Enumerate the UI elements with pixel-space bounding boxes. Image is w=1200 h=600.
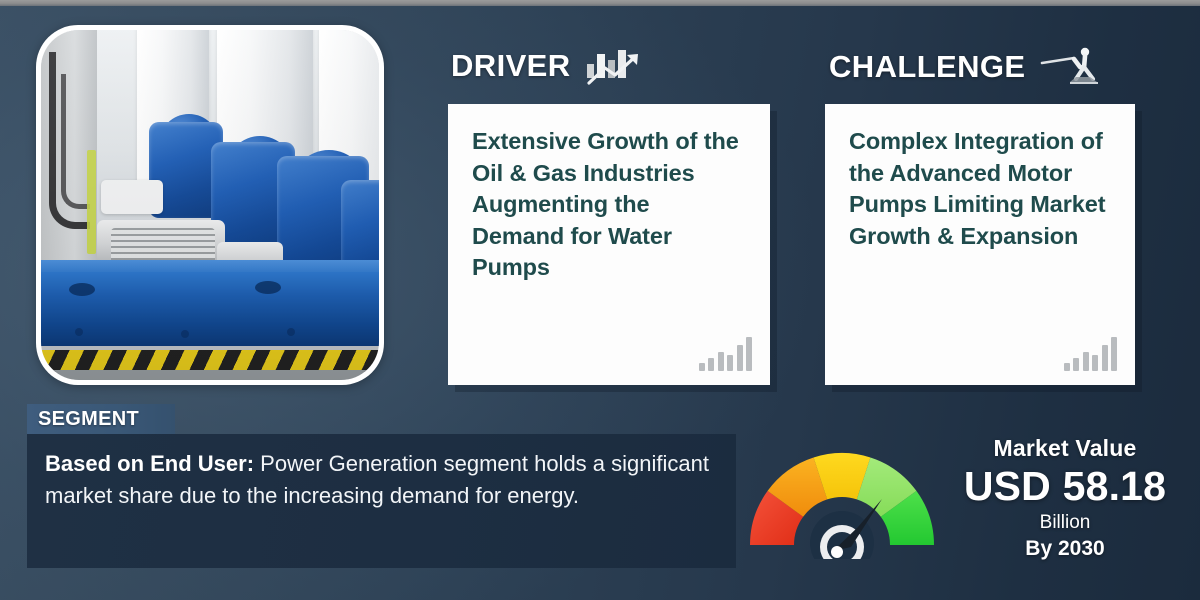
market-value-unit: Billion xyxy=(943,512,1187,534)
challenge-card: Complex Integration of the Advanced Moto… xyxy=(825,104,1135,385)
market-value-amount: USD 58.18 xyxy=(943,464,1187,510)
water-pump-photo xyxy=(41,30,379,380)
driver-card: Extensive Growth of the Oil & Gas Indust… xyxy=(448,104,770,385)
market-value-year: By 2030 xyxy=(943,537,1187,561)
ascending-bar-chart-icon xyxy=(699,335,753,371)
product-photo-frame xyxy=(36,25,384,385)
market-value-caption: Market Value xyxy=(943,435,1187,462)
driver-kicker-label: DRIVER xyxy=(451,48,571,84)
segment-label: SEGMENT xyxy=(27,404,175,434)
market-value-block: Market Value USD 58.18 Billion By 2030 xyxy=(943,435,1187,561)
challenge-header: CHALLENGE xyxy=(829,46,1102,88)
driver-header: DRIVER xyxy=(451,46,647,86)
photo-shading-overlay xyxy=(41,30,379,380)
segment-description: Based on End User: Power Generation segm… xyxy=(45,448,718,512)
top-strip xyxy=(0,0,1200,6)
challenge-card-text: Complex Integration of the Advanced Moto… xyxy=(849,126,1111,252)
challenge-kicker-label: CHALLENGE xyxy=(829,49,1026,85)
infographic-canvas: DRIVER CHALLENGE xyxy=(0,0,1200,600)
segment-label-text: SEGMENT xyxy=(38,408,139,431)
speedometer-gauge-icon xyxy=(743,437,941,559)
ascending-bar-chart-icon xyxy=(1064,335,1118,371)
person-pulling-rope-tug-of-war-icon xyxy=(1040,46,1102,88)
segment-description-panel: Based on End User: Power Generation segm… xyxy=(27,434,736,568)
segment-description-lead: Based on End User: xyxy=(45,451,254,476)
driver-card-text: Extensive Growth of the Oil & Gas Indust… xyxy=(472,126,746,284)
bar-chart-growth-arrow-icon xyxy=(585,46,647,86)
